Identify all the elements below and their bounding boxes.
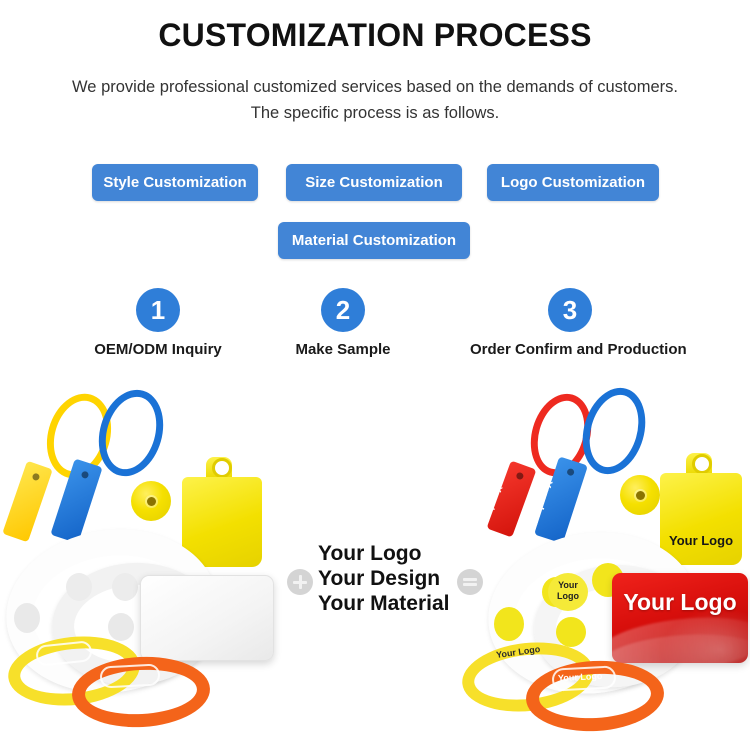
page-subtitle: We provide professional customized servi…: [0, 74, 750, 126]
blue-seal-hole: [81, 470, 90, 479]
large-ear-tag-eyelet-branded: [692, 454, 712, 474]
round-ear-tag-pin: [147, 497, 156, 506]
plus-icon: [287, 569, 313, 595]
option-logo-customization[interactable]: Logo Customization: [487, 164, 659, 201]
paper-band-yellow-dot: [494, 607, 524, 641]
option-size-customization[interactable]: Size Customization: [286, 164, 462, 201]
large-ear-tag-body-branded: Your Logo: [660, 473, 742, 565]
red-branded-card: Your Logo: [612, 573, 748, 663]
process-step-3: 3 Order Confirm and Production: [470, 288, 670, 358]
red-seal-hole: [515, 471, 524, 480]
subtitle-line-2: The specific process is as follows.: [0, 100, 750, 126]
paper-band-yellow-dot: [556, 617, 586, 647]
round-ear-tag-branded: [620, 475, 660, 515]
blank-products-photo: [0, 385, 300, 750]
step-2-number: 2: [321, 288, 365, 332]
orange-wristband-face: [99, 663, 160, 688]
process-step-1: 1 OEM/ODM Inquiry: [58, 288, 258, 358]
blue-seal-hole-branded: [566, 468, 575, 477]
large-ear-tag-body: [182, 477, 262, 567]
option-style-customization[interactable]: Style Customization: [92, 164, 258, 201]
round-ear-tag-blank: [131, 481, 171, 521]
paper-band-dot: [14, 603, 40, 633]
large-ear-tag-eyelet: [212, 458, 232, 478]
step-2-label: Make Sample: [243, 341, 443, 358]
paper-band-logo-line-1: Your: [558, 580, 578, 590]
customization-process-infographic: CUSTOMIZATION PROCESS We provide profess…: [0, 0, 750, 750]
process-step-2: 2 Make Sample: [243, 288, 443, 358]
subtitle-line-1: We provide professional customized servi…: [0, 74, 750, 100]
paper-band-dot: [66, 573, 92, 601]
yellow-seal-body: [2, 461, 53, 543]
plus-bar-vertical: [299, 575, 302, 589]
blank-plastic-card: [140, 575, 274, 661]
red-seal-logo-text: Your Logo: [480, 484, 505, 529]
branded-products-photo: Your Logo Your Logo Your Logo: [452, 385, 750, 750]
step-1-number: 1: [136, 288, 180, 332]
round-ear-tag-pin-branded: [636, 491, 645, 500]
paper-band-logo-dot: Your Logo: [548, 573, 588, 611]
option-material-customization[interactable]: Material Customization: [278, 222, 470, 259]
page-title: CUSTOMIZATION PROCESS: [0, 17, 750, 54]
red-card-logo-text: Your Logo: [612, 589, 748, 616]
step-3-label: Order Confirm and Production: [470, 341, 670, 358]
paper-band-dot: [112, 573, 138, 601]
paper-band-logo-line-2: Logo: [557, 591, 579, 601]
paper-band-dot: [108, 613, 134, 641]
step-3-number: 3: [548, 288, 592, 332]
ear-tag-logo-text: Your Logo: [660, 533, 742, 548]
step-1-label: OEM/ODM Inquiry: [58, 341, 258, 358]
yellow-seal-hole: [32, 472, 41, 481]
